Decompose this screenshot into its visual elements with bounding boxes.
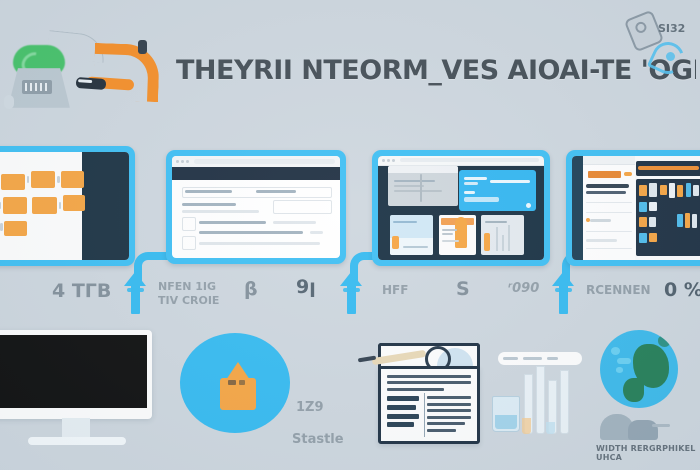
- panel-4-caption: RCENNEN: [586, 283, 651, 297]
- blue-swirl-dot-icon: [666, 52, 675, 61]
- monitor-base: [28, 437, 126, 445]
- tag-code-label: SI32: [658, 22, 685, 35]
- panel-3-screen: [378, 156, 544, 260]
- panel-3-caption: HFF: [382, 283, 408, 297]
- panel-2-caption-main: NFEN 1IG: [158, 280, 216, 293]
- panel-4-screen: [572, 156, 700, 260]
- panel-3-badge-1: S: [456, 278, 470, 300]
- circle-sublabel: Stastle: [292, 432, 344, 447]
- panel-3-badge-2: ʳ090: [508, 281, 539, 296]
- server-slot-icon: [22, 80, 52, 94]
- globe-caption: WIDTH RERGRPHIKEL UHCA: [596, 444, 700, 462]
- monitor-neck: [62, 418, 90, 438]
- panel-4-badge-1: 0 %: [664, 279, 700, 301]
- pen-icon: [358, 348, 434, 368]
- server-pod-icon: [4, 95, 14, 109]
- panel-2-screen: [172, 156, 340, 258]
- arrow-1: [124, 268, 146, 314]
- arrow-3: [552, 268, 574, 314]
- rock-shape-icon: [600, 408, 670, 442]
- arrow-2: [340, 268, 362, 314]
- panel-1-card[interactable]: [0, 146, 135, 266]
- globe-icon: [600, 330, 678, 408]
- panel-4-card[interactable]: [566, 150, 700, 266]
- panel-3-card[interactable]: [372, 150, 550, 266]
- panel-2-badge-2: 9ꞁ: [296, 276, 316, 298]
- orange-house-icon: [218, 362, 258, 410]
- panel-1-screen: [0, 152, 129, 260]
- panel-2-card[interactable]: [166, 150, 346, 264]
- panel-2-badge-1: β: [244, 278, 258, 300]
- document-card-icon[interactable]: [378, 366, 480, 444]
- circle-label: 1Z9: [296, 400, 324, 415]
- panel-2-caption: NFEN 1IG TIV CROIE: [158, 280, 219, 308]
- poster-canvas: THEYRII NTEORM_VES AIOAI-TE 'OGMMBFOES S…: [0, 0, 700, 470]
- orange-snorkel-icon: [76, 40, 172, 102]
- test-tubes-icon: [492, 352, 588, 438]
- panel-2-caption-sub: TIV CROIE: [158, 294, 219, 307]
- panel-1-caption: 4 ΤΓΒ: [52, 280, 111, 302]
- page-title: THEYRII NTEORM_VES AIOAI-TE 'OGMMBFOES: [176, 55, 696, 97]
- desktop-monitor-icon: [0, 330, 152, 418]
